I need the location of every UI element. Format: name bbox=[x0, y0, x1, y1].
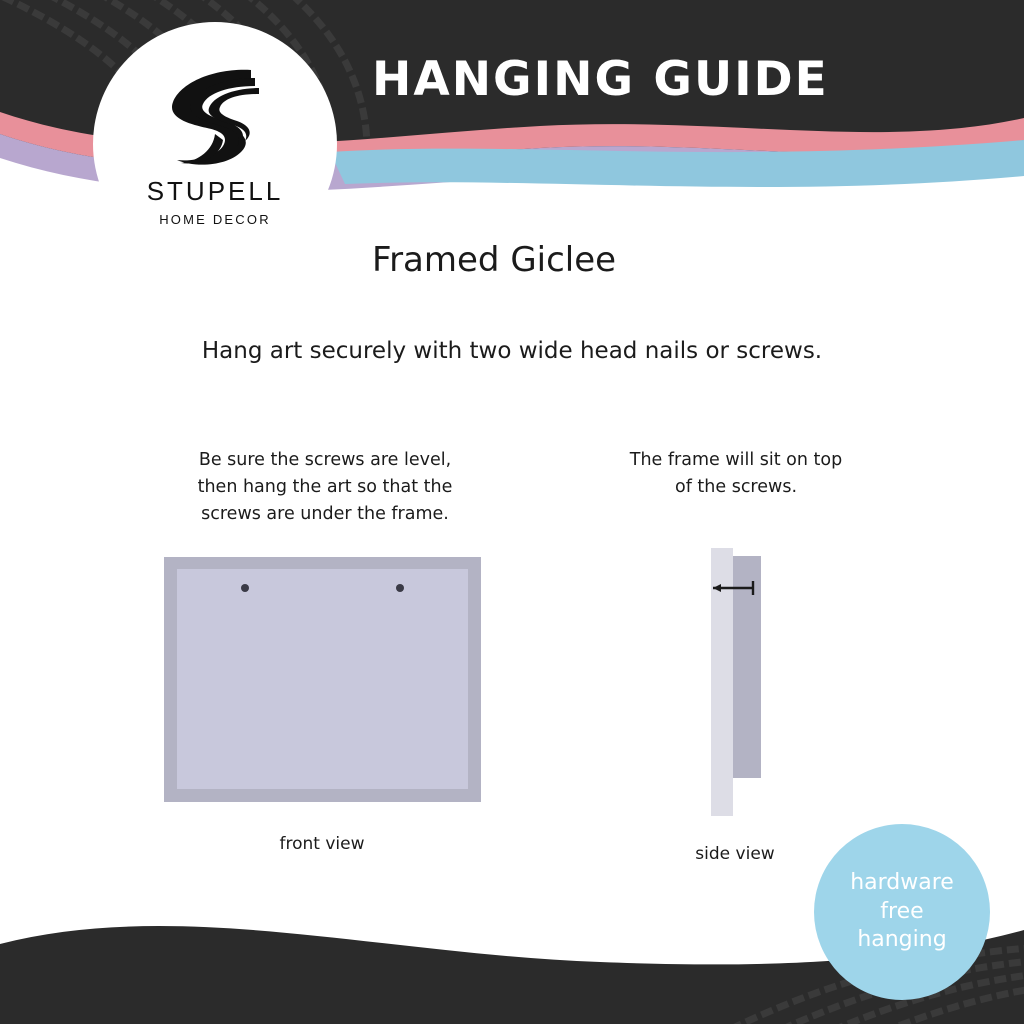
side-view-label: side view bbox=[610, 844, 860, 864]
badge-line-3: hanging bbox=[857, 926, 946, 955]
hardware-free-badge: hardware free hanging bbox=[814, 824, 990, 1000]
badge-line-1: hardware bbox=[850, 869, 954, 898]
side-view-caption-line-2: of the screws. bbox=[576, 474, 896, 501]
brand-name: STUPELL bbox=[147, 176, 284, 207]
front-view-caption-line-3: screws are under the frame. bbox=[140, 501, 510, 528]
screw-dot-icon bbox=[241, 584, 249, 592]
screw-dot-icon bbox=[396, 584, 404, 592]
hanging-guide-page: STUPELL HOME DECOR HANGING GUIDE Framed … bbox=[0, 0, 1024, 1024]
product-type-title: Framed Giclee bbox=[372, 240, 616, 280]
brand-logo-badge: STUPELL HOME DECOR bbox=[93, 22, 337, 266]
side-view-caption: The frame will sit on top of the screws. bbox=[576, 447, 896, 501]
badge-line-2: free bbox=[880, 898, 923, 927]
primary-instruction: Hang art securely with two wide head nai… bbox=[0, 338, 1024, 364]
page-title: HANGING GUIDE bbox=[372, 52, 829, 107]
side-view-caption-line-1: The frame will sit on top bbox=[576, 447, 896, 474]
brand-subtitle: HOME DECOR bbox=[159, 212, 271, 227]
front-view-frame-inner bbox=[177, 569, 468, 789]
stupell-swirl-logo-icon bbox=[155, 62, 275, 172]
screw-arrow-icon bbox=[705, 575, 775, 601]
front-view-caption-line-1: Be sure the screws are level, bbox=[140, 447, 510, 474]
front-view-frame-graphic bbox=[164, 557, 481, 802]
front-view-caption: Be sure the screws are level, then hang … bbox=[140, 447, 510, 528]
front-view-caption-line-2: then hang the art so that the bbox=[140, 474, 510, 501]
front-view-label: front view bbox=[190, 834, 454, 854]
